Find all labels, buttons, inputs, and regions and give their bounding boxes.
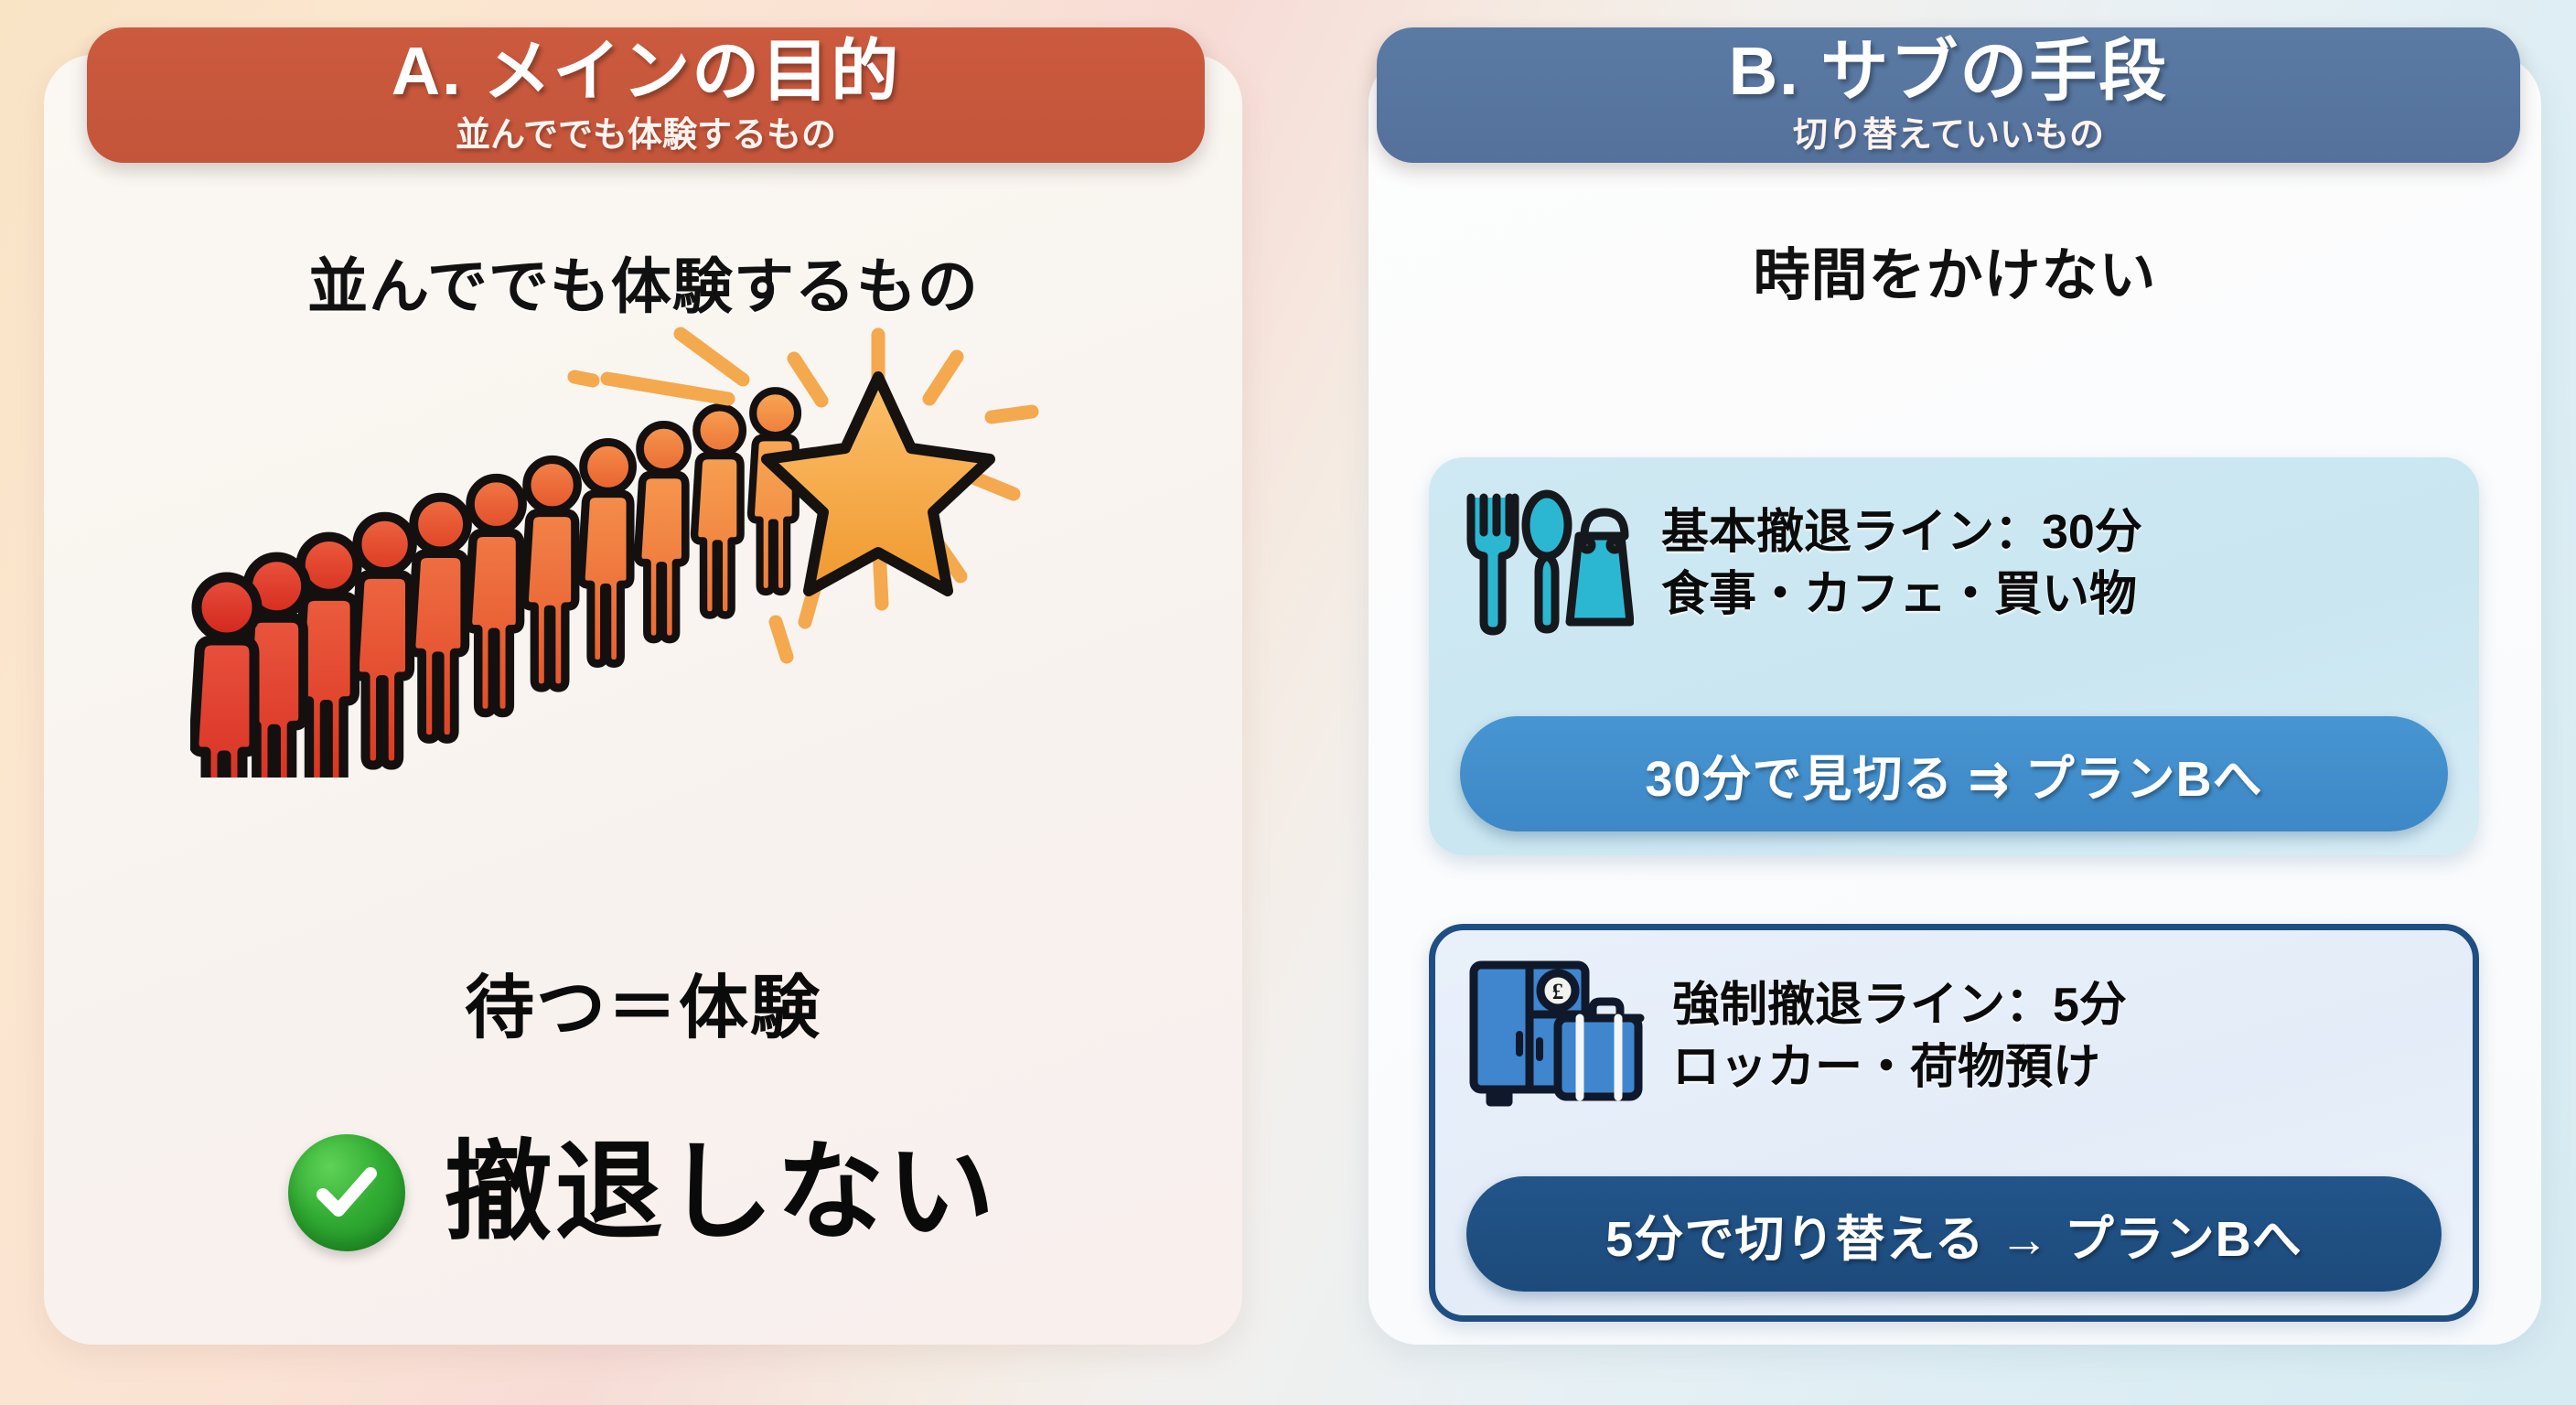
queue-to-star-illustration — [190, 302, 1105, 778]
locker-luggage-icons: £ — [1466, 954, 1645, 1119]
panel-a-subtitle: 並んででも体験するもの — [456, 118, 836, 153]
retreat-card-forced-line1: 強制撤退ライン：5分 — [1672, 979, 2127, 1032]
panel-b-lead-text: 時間をかけない — [1368, 229, 2541, 311]
retreat-card-basic-line1: 基本撤退ライン：30分 — [1661, 506, 2142, 559]
retreat-card-forced[interactable]: £ 強制 — [1429, 924, 2479, 1322]
panel-b-content: 時間をかけない — [1368, 55, 2541, 1345]
switch-to-plan-b-button-30min[interactable]: 30分で見切る ⇉ プランBへ — [1460, 716, 2448, 831]
panel-b-header-pill: B. サブの手段 切り替えていいもの — [1377, 27, 2520, 163]
retreat-card-basic[interactable]: 基本撤退ライン：30分 食事・カフェ・買い物 30分で見切る ⇉ プランBへ — [1429, 457, 2479, 855]
panel-b-subtitle: 切り替えていいもの — [1793, 118, 2104, 153]
switch-to-plan-b-button-30min-label: 30分で見切る ⇉ プランBへ — [1645, 738, 2262, 810]
suitcase-icon — [1558, 1002, 1640, 1097]
retreat-card-forced-text: 強制撤退ライン：5分 ロッカー・荷物預け — [1672, 979, 2127, 1094]
retreat-card-basic-row: 基本撤退ライン：30分 食事・カフェ・買い物 — [1429, 457, 2479, 646]
svg-text:£: £ — [1552, 980, 1564, 1004]
panel-a-verdict: 撤退しない — [44, 1134, 1242, 1251]
spoon-icon — [1526, 494, 1568, 629]
panel-a-equation: 待つ＝体験 — [44, 951, 1242, 1052]
retreat-card-basic-line2: 食事・カフェ・買い物 — [1661, 568, 2142, 621]
food-shopping-icons — [1460, 481, 1634, 646]
green-check-badge — [288, 1134, 405, 1251]
queue-star-svg — [190, 302, 1105, 778]
panel-a-content: 並んででも体験するもの — [44, 55, 1242, 1345]
retreat-card-forced-line2: ロッカー・荷物預け — [1672, 1041, 2127, 1094]
fork-icon — [1471, 498, 1515, 631]
shopping-bag-icon — [1570, 512, 1630, 622]
check-icon — [308, 1154, 385, 1231]
switch-to-plan-b-button-5min-label: 5分で切り替える → プランBへ — [1605, 1198, 2302, 1271]
panel-a-verdict-text: 撤退しない — [444, 1139, 997, 1247]
infographic-root: A. メインの目的 並んででも体験するもの 並んででも体験するもの — [0, 0, 2576, 1405]
panel-b-title: B. サブの手段 — [1729, 38, 2169, 105]
retreat-card-basic-text: 基本撤退ライン：30分 食事・カフェ・買い物 — [1661, 506, 2142, 621]
switch-to-plan-b-button-5min[interactable]: 5分で切り替える → プランBへ — [1466, 1176, 2442, 1292]
panel-a-header-pill: A. メインの目的 並んででも体験するもの — [87, 27, 1205, 163]
retreat-card-forced-row: £ 強制 — [1435, 930, 2473, 1119]
panel-a-title: A. メインの目的 — [392, 38, 901, 105]
